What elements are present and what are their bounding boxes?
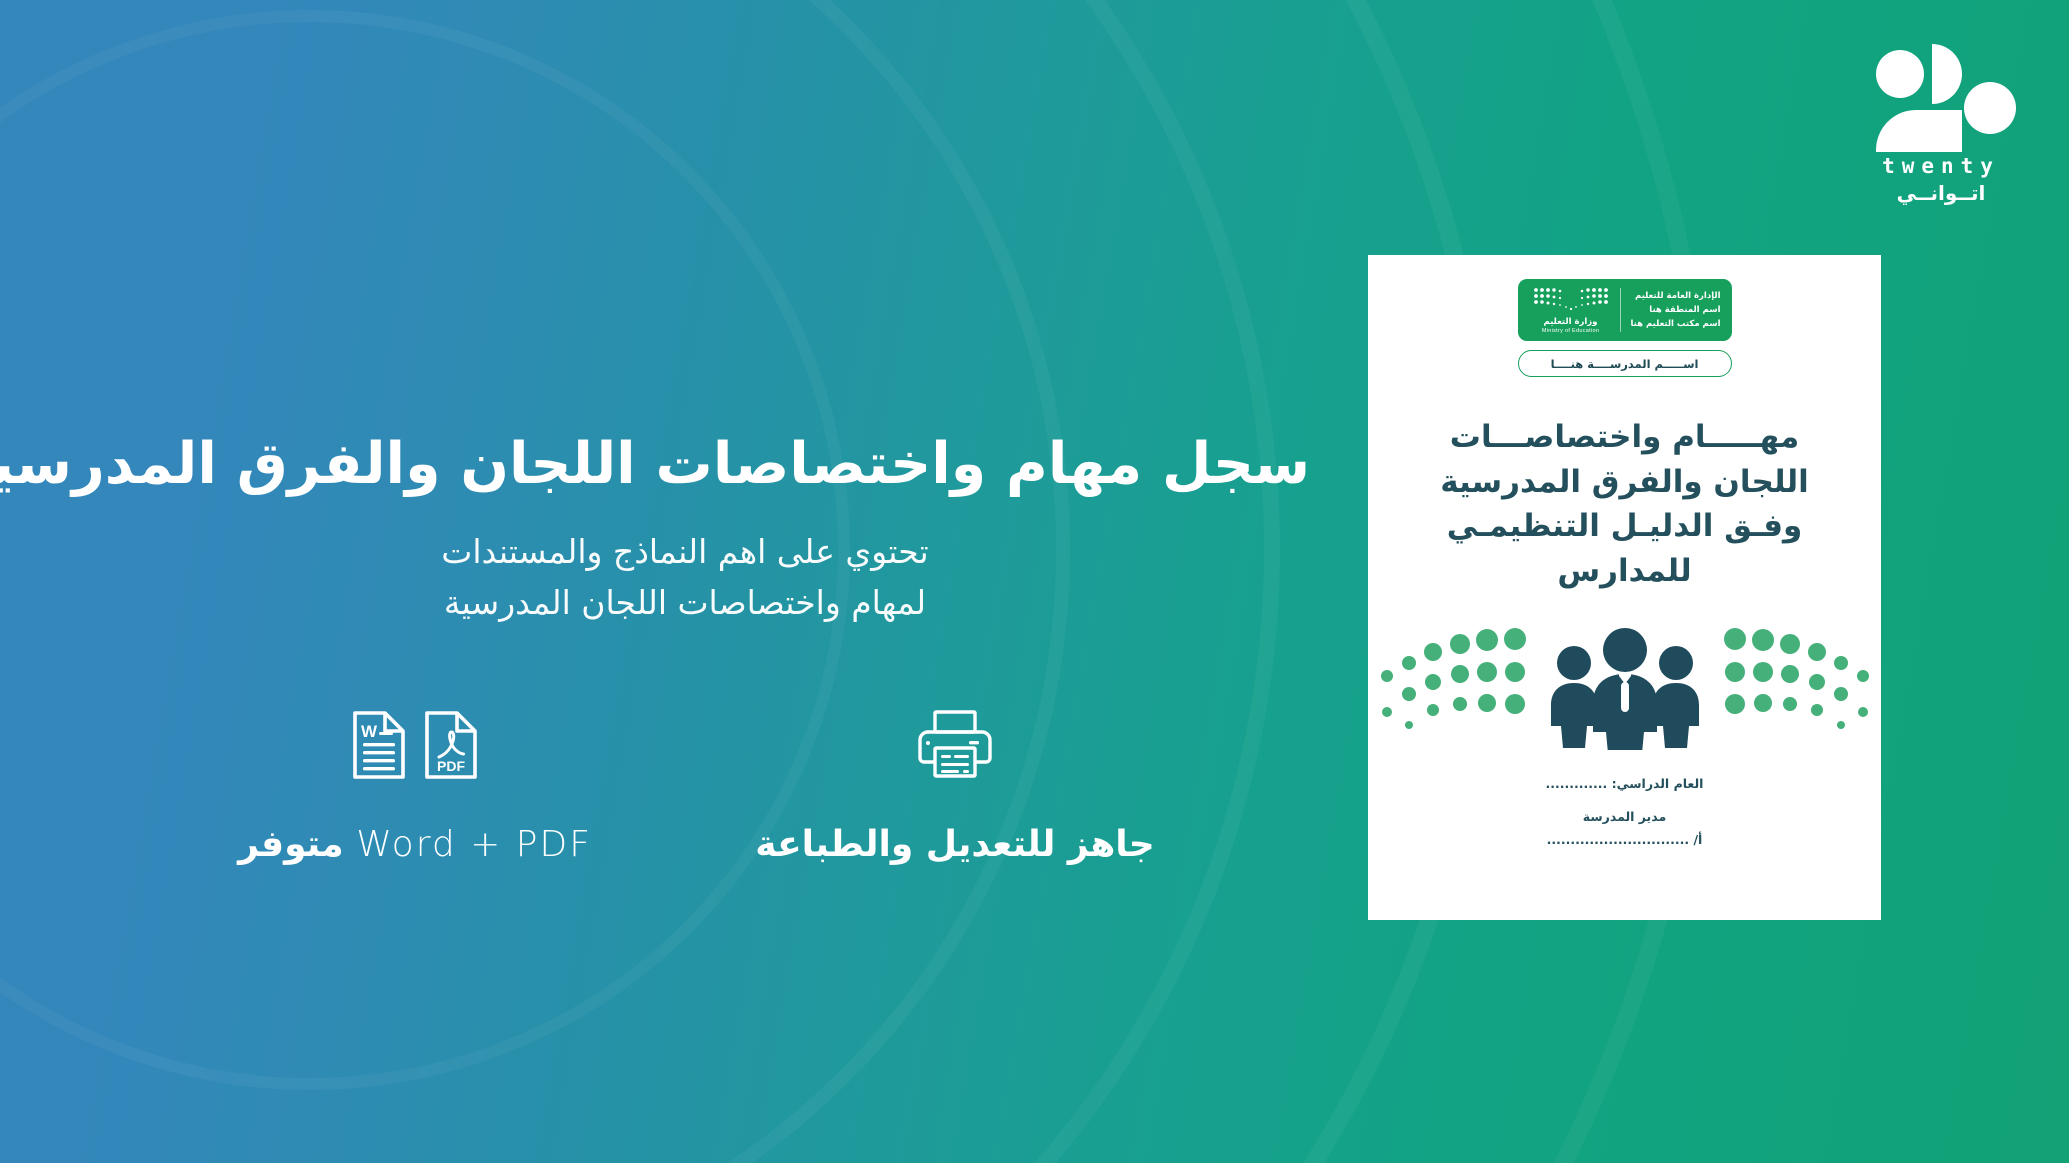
- feature-label-formats-arabic: متوفر: [238, 824, 344, 865]
- document-title: مهـــــام واختصاصـــات اللجان والفرق الم…: [1430, 415, 1820, 594]
- page-title: سجل مهام واختصاصات اللجان والفرق المدرسي…: [60, 430, 1310, 500]
- feature-list: جاهز للتعديل والطباعة PDF W: [60, 690, 1310, 865]
- dots-cluster-left: [1381, 628, 1526, 729]
- hero-subtitle: تحتوي على اهم النماذج والمستندات لمهام و…: [60, 526, 1310, 628]
- logo-shape-half-circle: [1932, 44, 1962, 104]
- brand-wordmark-latin: twenty: [1882, 156, 2000, 177]
- hero-subtitle-line-1: تحتوي على اهم النماذج والمستندات: [60, 526, 1310, 577]
- logo-shape-circle: [1964, 82, 2016, 134]
- header-divider: [1620, 288, 1621, 332]
- document-title-line-3: وفـق الدليـل التنظيمـي: [1430, 504, 1820, 549]
- hero-subtitle-line-2: لمهام واختصاصات اللجان المدرسية: [60, 577, 1310, 628]
- feature-formats: PDF W Word + PDF متوفر: [190, 690, 640, 865]
- printer-icon: [913, 708, 997, 782]
- brand-logo: twenty اتــوانــي: [1861, 44, 2021, 203]
- dots-cluster-right: [1724, 628, 1869, 729]
- academic-year-field: العام الدراسي: .............: [1460, 776, 1790, 791]
- feature-print-edit: جاهز للتعديل والطباعة: [730, 690, 1180, 865]
- ministry-name-english: Ministry of Education: [1542, 329, 1599, 335]
- document-footer: العام الدراسي: ............. مدير المدرس…: [1460, 776, 1790, 847]
- feature-icon-group: PDF W: [351, 690, 479, 800]
- svg-text:W: W: [361, 722, 378, 741]
- document-title-line-1: مهـــــام واختصاصـــات: [1430, 415, 1820, 460]
- document-cover-preview[interactable]: الإدارة العامة للتعليم اسم المنطقة هنا ا…: [1368, 255, 1881, 920]
- ministry-of-education-logo: وزارة التعليم Ministry of Education: [1527, 286, 1611, 334]
- feature-icon-group: [913, 690, 997, 800]
- word-file-icon: W: [351, 709, 407, 781]
- feature-label-formats: Word + PDF متوفر: [238, 824, 592, 865]
- document-title-line-4: للمدارس: [1430, 549, 1820, 594]
- hero-text-block: سجل مهام واختصاصات اللجان والفرق المدرسي…: [60, 430, 1310, 628]
- pdf-file-icon: PDF: [423, 709, 479, 781]
- moe-palm-dots-icon: [1532, 286, 1610, 316]
- logo-shape-circle: [1876, 50, 1924, 98]
- school-name-field: اســـــم المدرســــة هنــــا: [1518, 350, 1732, 377]
- feature-label-formats-latin: Word + PDF: [356, 824, 592, 865]
- principal-signature-field: أ/ ..............................: [1460, 832, 1790, 847]
- brand-wordmark-arabic: اتــوانــي: [1897, 183, 1986, 203]
- feature-label-print-edit: جاهز للتعديل والطباعة: [755, 824, 1155, 865]
- ministry-name-arabic: وزارة التعليم: [1544, 318, 1598, 327]
- logo-shape-quarter: [1876, 110, 1962, 152]
- document-header-banner: الإدارة العامة للتعليم اسم المنطقة هنا ا…: [1518, 279, 1732, 341]
- promo-banner: twenty اتــوانــي سجل مهام واختصاصات الل…: [0, 0, 2069, 1163]
- twenty-20-logo-icon: [1876, 44, 2006, 152]
- authority-line-3: اسم مكتب التعليم هنا: [1630, 317, 1720, 331]
- team-and-dots-illustration: [1375, 620, 1875, 750]
- authority-line-1: الإدارة العامة للتعليم: [1630, 289, 1720, 303]
- authority-line-2: اسم المنطقة هنا: [1630, 303, 1720, 317]
- svg-text:PDF: PDF: [437, 758, 465, 774]
- principal-label: مدير المدرسة: [1460, 809, 1790, 824]
- document-illustration: [1375, 620, 1875, 750]
- education-authority-block: الإدارة العامة للتعليم اسم المنطقة هنا ا…: [1630, 289, 1722, 331]
- document-title-line-2: اللجان والفرق المدرسية: [1430, 460, 1820, 505]
